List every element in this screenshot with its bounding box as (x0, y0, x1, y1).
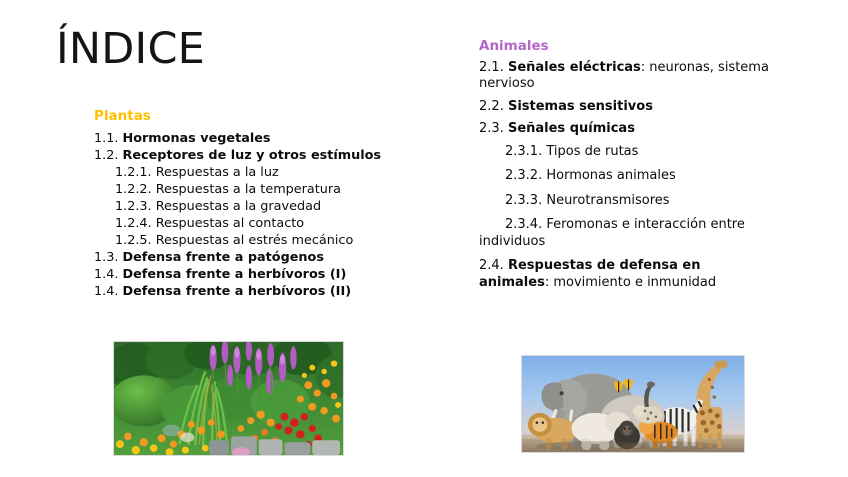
section-heading-plantas: Plantas (94, 108, 394, 125)
toc-item[interactable]: 2.1. Señales eléctricas: neuronas, siste… (479, 60, 769, 93)
toc-item-number: 1.4. (94, 284, 123, 299)
slide-canvas: ÍNDICE Plantas 1.1. Hormonas vegetales1.… (0, 0, 848, 477)
toc-item-label: Respuestas al contacto (156, 216, 304, 231)
toc-item[interactable]: 1.2. Receptores de luz y otros estímulos (94, 147, 394, 164)
toc-item-number: 2.3.3. (505, 193, 546, 208)
toc-item-label: Hormonas animales (546, 168, 675, 183)
toc-item-number: 1.2.4. (115, 216, 156, 231)
toc-item[interactable]: 1.2.5. Respuestas al estrés mecánico (94, 232, 394, 249)
toc-item-number: 2.1. (479, 60, 508, 75)
column-plantas: Plantas 1.1. Hormonas vegetales1.2. Rece… (94, 108, 394, 300)
toc-item[interactable]: 1.2.3. Respuestas a la gravedad (94, 198, 394, 215)
toc-item-number: 1.2.5. (115, 233, 156, 248)
toc-item[interactable]: 2.3.4. Feromonas e interacción entre ind… (479, 217, 769, 250)
garden-flowers-illustration (114, 342, 343, 455)
toc-item-label: Defensa frente a herbívoros (I) (123, 267, 347, 282)
toc-list-animales: 2.1. Señales eléctricas: neuronas, siste… (479, 60, 769, 292)
toc-item-number: 1.2. (94, 148, 123, 163)
toc-item-number: 1.2.3. (115, 199, 156, 214)
toc-item[interactable]: 1.3. Defensa frente a patógenos (94, 249, 394, 266)
page-title: ÍNDICE (56, 27, 205, 72)
toc-item-label: Sistemas sensitivos (508, 99, 653, 114)
wild-animals-group-illustration (522, 356, 744, 452)
toc-item[interactable]: 2.3.2. Hormonas animales (479, 168, 769, 185)
toc-item-label: Defensa frente a herbívoros (II) (123, 284, 352, 299)
toc-item[interactable]: 2.3.1. Tipos de rutas (479, 144, 769, 161)
toc-item-number: 2.2. (479, 99, 508, 114)
toc-item-label: Respuestas al estrés mecánico (156, 233, 354, 248)
toc-item[interactable]: 2.3.3. Neurotransmisores (479, 193, 769, 210)
toc-item[interactable]: 1.2.2. Respuestas a la temperatura (94, 181, 394, 198)
toc-item-label: Respuestas a la temperatura (156, 182, 341, 197)
toc-item-number: 2.3.1. (505, 144, 546, 159)
toc-item[interactable]: 2.4. Respuestas de defensa en animales: … (479, 258, 769, 291)
toc-item-label: Respuestas a la luz (156, 165, 279, 180)
toc-item-number: 2.3.2. (505, 168, 546, 183)
toc-item-number: 1.3. (94, 250, 123, 265)
toc-item-number: 1.2.2. (115, 182, 156, 197)
toc-item[interactable]: 1.2.4. Respuestas al contacto (94, 215, 394, 232)
toc-item-number: 2.4. (479, 258, 508, 273)
toc-item-label: Respuestas a la gravedad (156, 199, 321, 214)
toc-item-label: Señales eléctricas (508, 60, 641, 75)
toc-item-number: 1.1. (94, 131, 123, 146)
toc-item-label: Señales químicas (508, 121, 635, 136)
toc-item[interactable]: 2.3. Señales químicas (479, 121, 769, 138)
toc-item-number: 2.3. (479, 121, 508, 136)
toc-item[interactable]: 2.2. Sistemas sensitivos (479, 99, 769, 116)
section-heading-animales: Animales (479, 38, 769, 55)
toc-item-number: 1.2.1. (115, 165, 156, 180)
plants-photo (113, 341, 344, 456)
toc-item-label: Hormonas vegetales (123, 131, 271, 146)
toc-item[interactable]: 1.4. Defensa frente a herbívoros (II) (94, 283, 394, 300)
animals-photo (521, 355, 745, 453)
toc-item-label: Defensa frente a patógenos (123, 250, 324, 265)
toc-item[interactable]: 1.1. Hormonas vegetales (94, 130, 394, 147)
toc-item[interactable]: 1.4. Defensa frente a herbívoros (I) (94, 266, 394, 283)
toc-item-label: Receptores de luz y otros estímulos (123, 148, 382, 163)
toc-item-number: 1.4. (94, 267, 123, 282)
toc-item[interactable]: 1.2.1. Respuestas a la luz (94, 164, 394, 181)
toc-item-label: Tipos de rutas (546, 144, 638, 159)
toc-item-label: Neurotransmisores (546, 193, 669, 208)
column-animales: Animales 2.1. Señales eléctricas: neuron… (479, 38, 769, 297)
toc-item-subtitle: : movimiento e inmunidad (545, 275, 716, 290)
toc-item-number: 2.3.4. (505, 217, 546, 232)
toc-list-plantas: 1.1. Hormonas vegetales1.2. Receptores d… (94, 130, 394, 300)
